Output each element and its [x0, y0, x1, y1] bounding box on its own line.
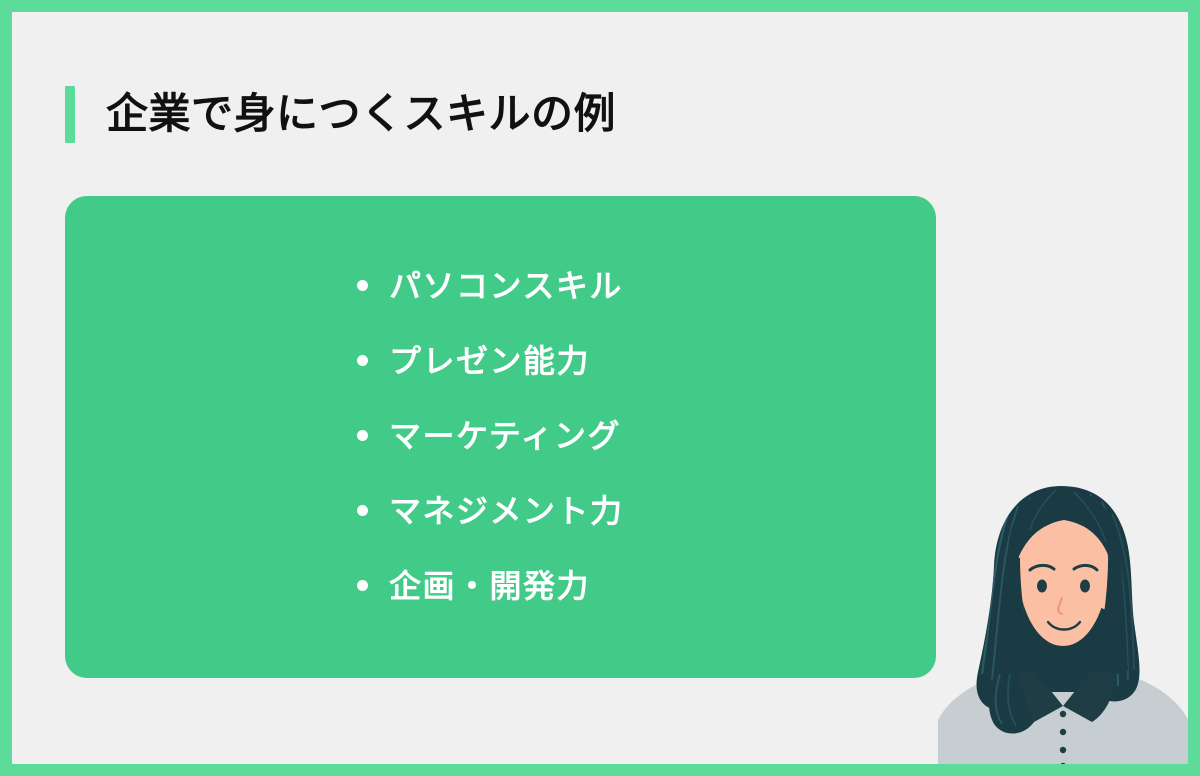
list-item-label: プレゼン能力 [389, 345, 590, 377]
skills-card: パソコンスキル プレゼン能力 マーケティング マネジメント力 企画・開発力 [65, 196, 936, 678]
bullet-dot-icon [357, 430, 368, 441]
slide-frame: 企業で身につくスキルの例 パソコンスキル プレゼン能力 マーケティング [0, 0, 1200, 776]
page-title-text: 企業で身につくスキルの例 [106, 93, 616, 135]
list-item: マーケティング [357, 398, 624, 473]
title-accent-bar [65, 86, 75, 143]
list-item: マネジメント力 [357, 473, 624, 548]
list-item-label: パソコンスキル [389, 270, 623, 302]
skills-list: パソコンスキル プレゼン能力 マーケティング マネジメント力 企画・開発力 [357, 248, 624, 623]
list-item: プレゼン能力 [357, 323, 624, 398]
bullet-dot-icon [357, 355, 368, 366]
list-item: 企画・開発力 [357, 548, 624, 623]
page-title: 企業で身につくスキルの例 [65, 85, 616, 143]
slide-inner: 企業で身につくスキルの例 パソコンスキル プレゼン能力 マーケティング [12, 12, 1188, 764]
bullet-dot-icon [357, 505, 368, 516]
woman-portrait-illustration [938, 474, 1188, 764]
list-item-label: マネジメント力 [389, 495, 624, 527]
bullet-dot-icon [357, 580, 368, 591]
list-item-label: 企画・開発力 [389, 570, 590, 602]
list-item: パソコンスキル [357, 248, 624, 323]
list-item-label: マーケティング [389, 420, 621, 452]
bullet-dot-icon [357, 280, 368, 291]
